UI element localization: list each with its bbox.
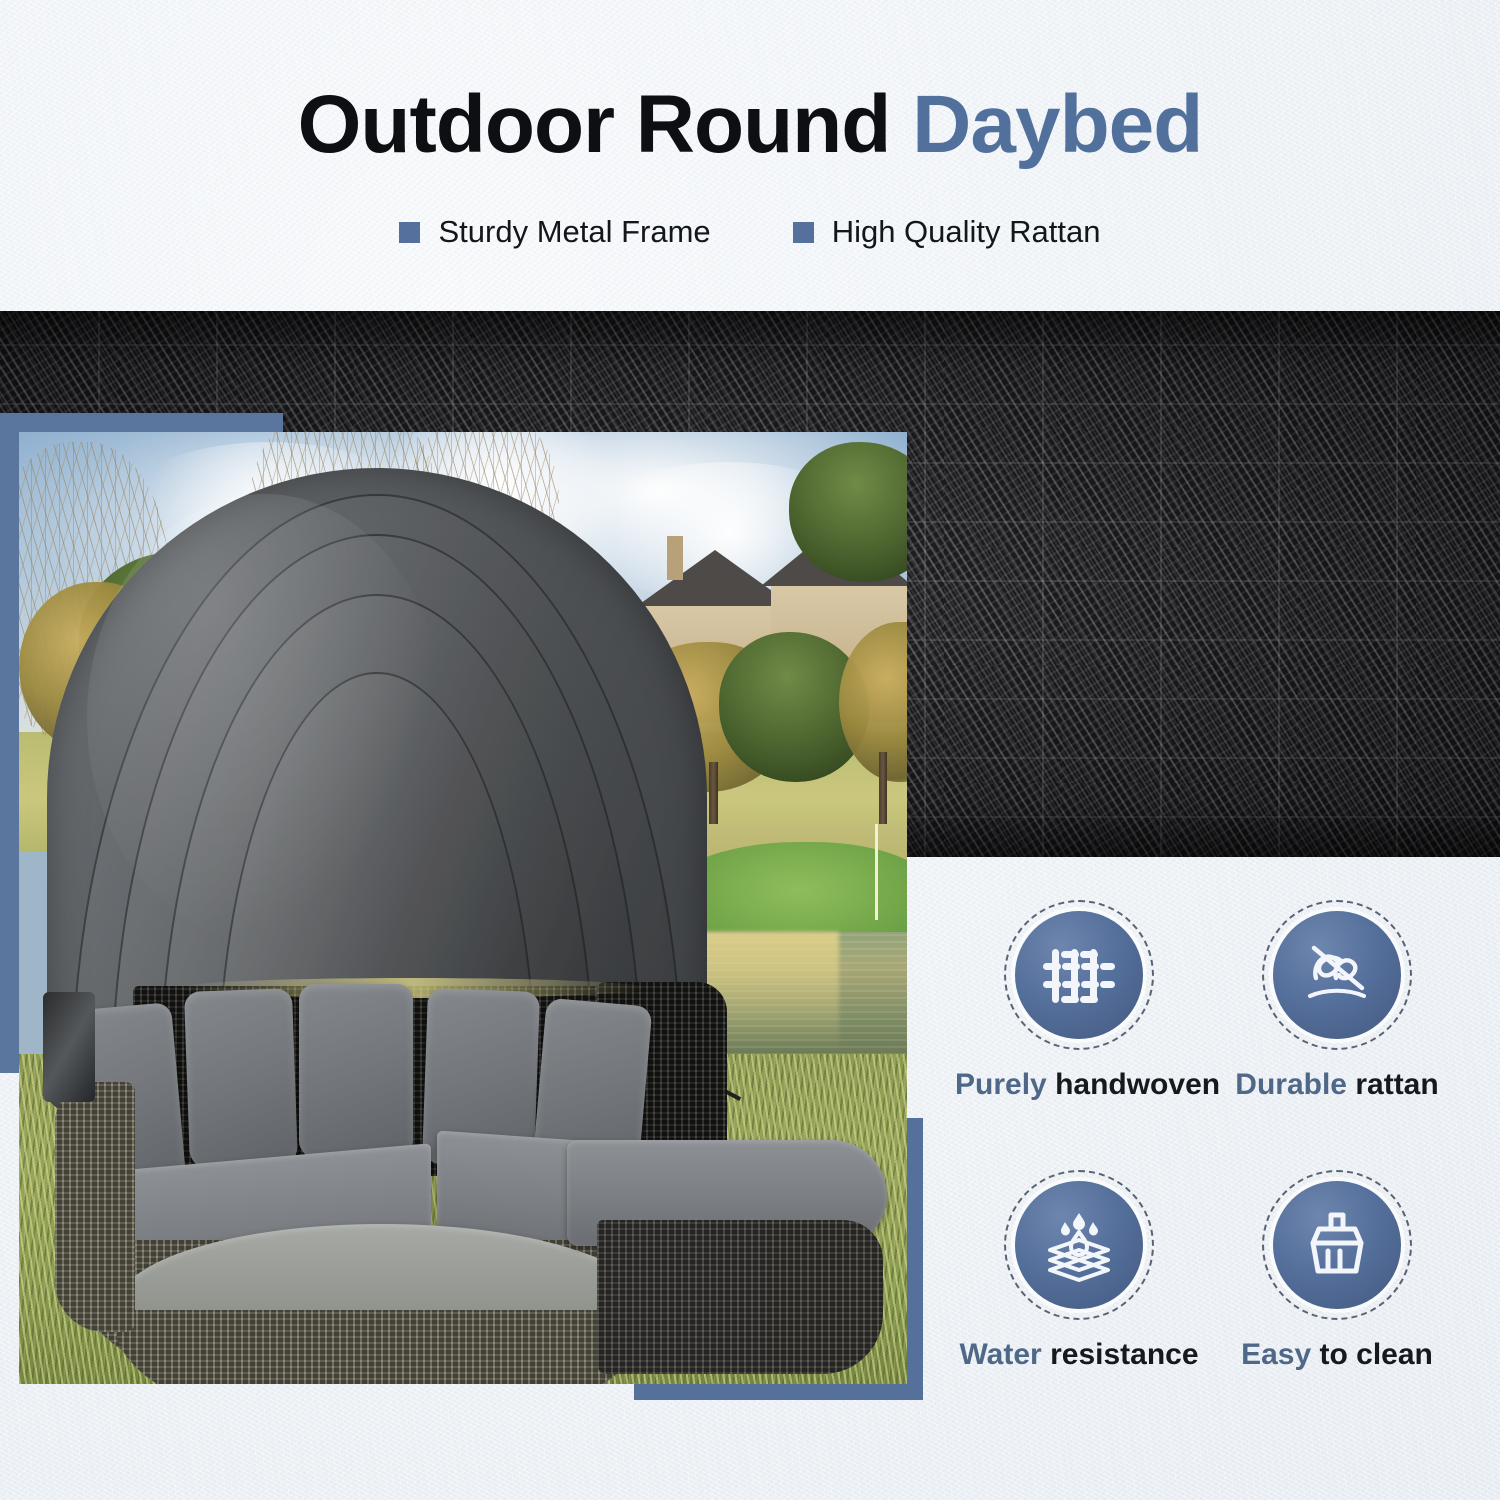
- cleaning-brush-icon: [1273, 1181, 1401, 1309]
- photo-tree-trunk: [879, 752, 887, 832]
- feature-caption-accent: Easy: [1241, 1338, 1311, 1371]
- header-section: Outdoor Round Daybed Sturdy Metal Frame …: [0, 0, 1500, 310]
- feature-bullet-row: Sturdy Metal Frame High Quality Rattan: [0, 214, 1500, 250]
- photo-daybed: [37, 972, 897, 1384]
- daybed-pillow: [299, 984, 413, 1160]
- feature-easy-to-clean: Easy to clean: [1213, 1170, 1461, 1371]
- feature-caption-accent: Purely: [955, 1068, 1047, 1101]
- square-bullet-icon: [793, 222, 814, 243]
- feature-caption-accent: Durable: [1235, 1068, 1347, 1101]
- feature-durable-rattan: Durable rattan: [1213, 900, 1461, 1101]
- bullet-item-high-quality-rattan: High Quality Rattan: [793, 214, 1101, 250]
- square-bullet-icon: [399, 222, 420, 243]
- ottoman-front-base: [115, 1310, 645, 1384]
- product-marketing-banner: Outdoor Round Daybed Sturdy Metal Frame …: [0, 0, 1500, 1500]
- page-title: Outdoor Round Daybed: [0, 84, 1500, 166]
- frame-top-left-horizontal: [0, 413, 283, 432]
- woven-basket-icon: [1015, 911, 1143, 1039]
- water-droplets-layers-icon: [1015, 1181, 1143, 1309]
- no-scratch-icon: [1273, 911, 1401, 1039]
- daybed-pillow: [184, 988, 298, 1170]
- canopy-hinge-hardware: [43, 992, 95, 1102]
- feature-caption-main: resistance: [1050, 1338, 1198, 1371]
- ottoman-right-base: [597, 1220, 883, 1374]
- feature-caption: Purely handwoven: [955, 1068, 1203, 1101]
- title-primary: Outdoor Round: [298, 79, 891, 170]
- frame-bottom-right-horizontal: [634, 1383, 923, 1400]
- feature-purely-handwoven: Purely handwoven: [955, 900, 1203, 1101]
- title-accent: Daybed: [912, 79, 1202, 170]
- feature-caption: Water resistance: [955, 1338, 1203, 1371]
- frame-bottom-right-vertical: [906, 1118, 923, 1400]
- photo-flagstick: [875, 824, 878, 920]
- photo-tree-trunk: [709, 762, 718, 832]
- bullet-item-sturdy-metal-frame: Sturdy Metal Frame: [399, 214, 710, 250]
- feature-icon-wrap: [1262, 900, 1412, 1050]
- canopy-highlight: [87, 494, 443, 942]
- daybed-left-shell: [55, 1082, 135, 1332]
- product-photo: [19, 432, 907, 1384]
- feature-icon-wrap: [1004, 1170, 1154, 1320]
- feature-icon-grid: Purely handwoven: [955, 900, 1467, 1420]
- frame-top-left-vertical: [0, 413, 19, 1073]
- feature-icon-wrap: [1262, 1170, 1412, 1320]
- feature-caption-main: handwoven: [1055, 1068, 1220, 1101]
- feature-caption-main: rattan: [1355, 1068, 1438, 1101]
- feature-caption-main: to clean: [1320, 1338, 1433, 1371]
- feature-caption-accent: Water: [959, 1338, 1041, 1371]
- feature-caption: Easy to clean: [1213, 1338, 1461, 1371]
- feature-icon-wrap: [1004, 900, 1154, 1050]
- feature-caption: Durable rattan: [1213, 1068, 1461, 1101]
- feature-water-resistance: Water resistance: [955, 1170, 1203, 1371]
- bullet-label: Sturdy Metal Frame: [438, 214, 710, 250]
- bullet-label: High Quality Rattan: [832, 214, 1101, 250]
